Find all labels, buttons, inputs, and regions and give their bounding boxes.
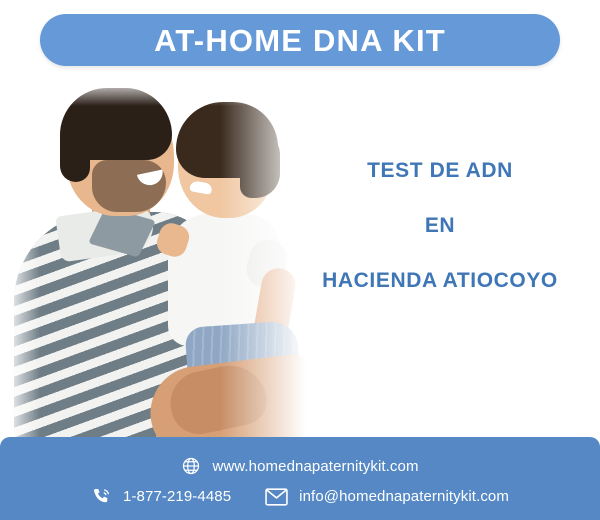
footer-website-label: www.homednapaternitykit.com	[212, 458, 418, 475]
headline-line-3: HACIENDA ATIOCOYO	[290, 270, 590, 291]
headline-line-2: EN	[290, 215, 590, 236]
headline-block: TEST DE ADN EN HACIENDA ATIOCOYO	[290, 160, 590, 291]
footer-contact-row: 1-877-219-4485 info@homednapaternitykit.…	[0, 486, 600, 507]
globe-icon	[181, 456, 201, 476]
footer-website[interactable]: www.homednapaternitykit.com	[181, 456, 418, 476]
photo-man-sideburn	[60, 118, 90, 182]
header-title: AT-HOME DNA KIT	[154, 25, 446, 56]
headline-line-1: TEST DE ADN	[290, 160, 590, 181]
footer-email-label: info@homednapaternitykit.com	[299, 488, 509, 505]
envelope-icon	[265, 488, 288, 506]
poster-canvas: AT-HOME DNA KIT	[0, 0, 600, 520]
photo-man-beard	[92, 160, 166, 212]
footer-bar: www.homednapaternitykit.com 1-877-219-44…	[0, 437, 600, 520]
hero-photo-image	[0, 72, 330, 450]
header-banner: AT-HOME DNA KIT	[40, 14, 560, 66]
phone-icon	[91, 486, 112, 507]
footer-email[interactable]: info@homednapaternitykit.com	[265, 488, 509, 506]
photo-fade-top	[0, 72, 330, 106]
photo-fade-left	[0, 72, 40, 450]
footer-phone-label: 1-877-219-4485	[123, 488, 231, 505]
footer-phone[interactable]: 1-877-219-4485	[91, 486, 231, 507]
footer-website-row: www.homednapaternitykit.com	[0, 456, 600, 476]
hero-photo	[0, 72, 330, 450]
